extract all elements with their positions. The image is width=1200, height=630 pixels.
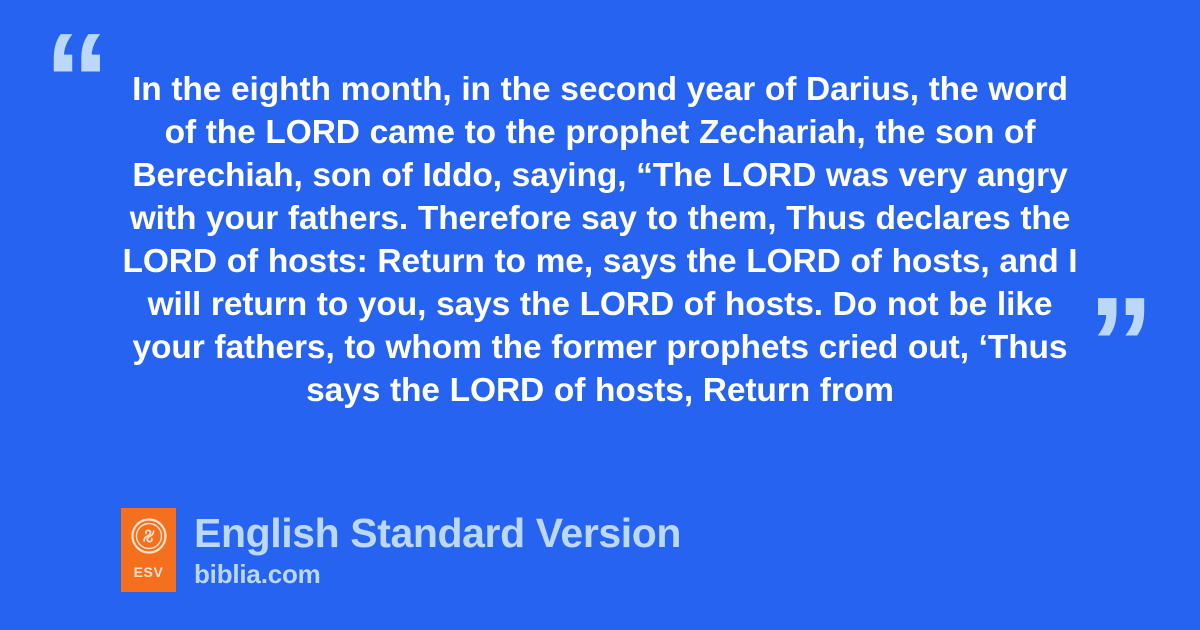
closing-quotation-mark-icon: ”: [1088, 278, 1154, 410]
site-url[interactable]: biblia.com: [194, 559, 681, 589]
esv-seal-icon: [131, 518, 167, 554]
opening-quotation-mark-icon: “: [44, 14, 110, 146]
esv-logo: ESV: [121, 508, 176, 592]
bible-version-name: English Standard Version: [194, 509, 681, 557]
quote-card: “ In the eighth month, in the second yea…: [0, 0, 1200, 630]
quote-block: “ In the eighth month, in the second yea…: [0, 0, 1200, 470]
footer-text-group: English Standard Version biblia.com: [194, 508, 681, 589]
quote-text: In the eighth month, in the second year …: [120, 68, 1080, 412]
esv-logo-abbreviation: ESV: [134, 564, 164, 580]
attribution-footer: ESV English Standard Version biblia.com: [121, 508, 681, 592]
